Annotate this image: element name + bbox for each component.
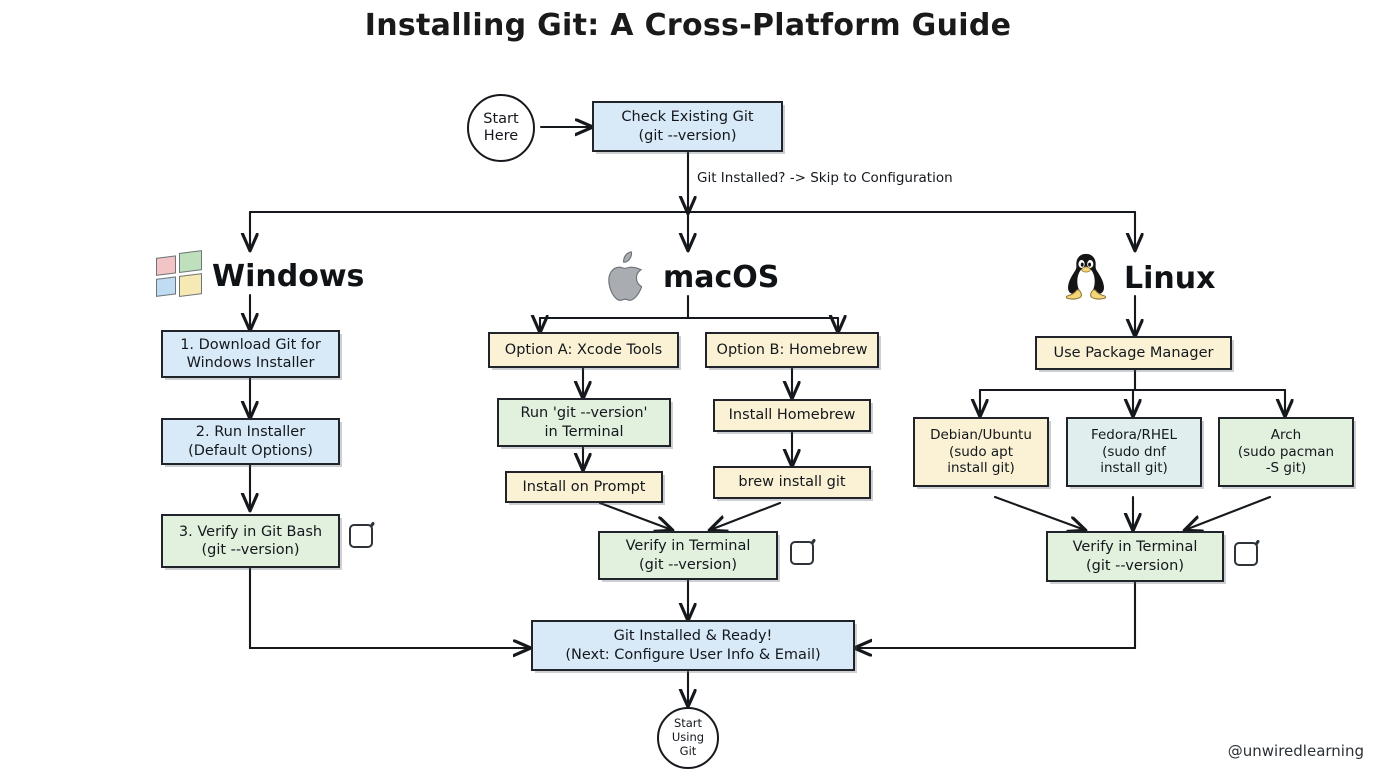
- edge-label-skip-to-configuration: Git Installed? -> Skip to Configuration: [697, 170, 953, 186]
- platform-header-windows: Windows: [156, 255, 364, 297]
- windows-logo-icon: [156, 252, 202, 300]
- node-macos-brew-install-git[interactable]: brew install git: [713, 466, 871, 499]
- node-linux-verify-label: Verify in Terminal (git --version): [1056, 538, 1214, 574]
- node-macos-verify-label: Verify in Terminal (git --version): [608, 537, 768, 573]
- apple-logo-icon: [605, 250, 653, 304]
- platform-header-macos: macOS: [605, 250, 779, 304]
- node-linux-debian-ubuntu[interactable]: Debian/Ubuntu (sudo apt install git): [913, 417, 1049, 487]
- node-macos-verify[interactable]: Verify in Terminal (git --version): [598, 531, 778, 580]
- node-linux-arch-label: Arch (sudo pacman -S git): [1228, 427, 1344, 478]
- node-macos-brew-install-git-label: brew install git: [723, 473, 861, 491]
- watermark: @unwiredlearning: [1228, 742, 1364, 760]
- node-check-existing-git[interactable]: Check Existing Git (git --version): [592, 101, 783, 152]
- node-windows-step-2-label: 2. Run Installer (Default Options): [171, 423, 330, 459]
- end-node-label: Start Using Git: [672, 717, 704, 758]
- node-macos-install-homebrew-label: Install Homebrew: [723, 406, 861, 424]
- node-linux-fedora-rhel-label: Fedora/RHEL (sudo dnf install git): [1076, 427, 1192, 478]
- node-macos-option-a[interactable]: Option A: Xcode Tools: [488, 332, 679, 368]
- end-node[interactable]: Start Using Git: [657, 707, 719, 769]
- diagram-canvas: Installing Git: A Cross-Platform Guide S…: [0, 0, 1376, 768]
- page-title: Installing Git: A Cross-Platform Guide: [0, 8, 1376, 43]
- node-windows-step-1[interactable]: 1. Download Git for Windows Installer: [161, 330, 340, 378]
- tux-penguin-icon: [1058, 250, 1114, 306]
- start-node-label: Start Here: [483, 111, 518, 146]
- node-linux-verify[interactable]: Verify in Terminal (git --version): [1046, 531, 1224, 582]
- node-linux-package-manager[interactable]: Use Package Manager: [1035, 336, 1232, 370]
- node-windows-step-1-label: 1. Download Git for Windows Installer: [171, 336, 330, 372]
- node-macos-install-on-prompt[interactable]: Install on Prompt: [505, 471, 663, 503]
- node-macos-option-b[interactable]: Option B: Homebrew: [705, 332, 879, 368]
- node-check-existing-git-label: Check Existing Git (git --version): [602, 108, 773, 144]
- platform-name-linux: Linux: [1124, 261, 1215, 296]
- node-macos-option-b-label: Option B: Homebrew: [715, 341, 869, 359]
- check-badge-linux: [1232, 539, 1262, 569]
- node-macos-install-homebrew[interactable]: Install Homebrew: [713, 399, 871, 432]
- start-node[interactable]: Start Here: [467, 94, 535, 162]
- node-windows-step-3[interactable]: 3. Verify in Git Bash (git --version): [161, 514, 340, 568]
- node-git-installed-ready-label: Git Installed & Ready! (Next: Configure …: [541, 627, 845, 663]
- platform-header-linux: Linux: [1058, 250, 1215, 306]
- node-macos-install-on-prompt-label: Install on Prompt: [515, 478, 653, 496]
- platform-name-windows: Windows: [212, 259, 364, 294]
- node-macos-run-git-version[interactable]: Run 'git --version' in Terminal: [497, 398, 671, 447]
- node-windows-step-3-label: 3. Verify in Git Bash (git --version): [171, 523, 330, 559]
- check-badge-macos: [788, 538, 818, 568]
- node-linux-debian-ubuntu-label: Debian/Ubuntu (sudo apt install git): [923, 427, 1039, 478]
- node-macos-run-git-version-label: Run 'git --version' in Terminal: [507, 404, 661, 440]
- node-linux-fedora-rhel[interactable]: Fedora/RHEL (sudo dnf install git): [1066, 417, 1202, 487]
- check-badge-windows: [347, 521, 377, 551]
- platform-name-macos: macOS: [663, 260, 779, 295]
- node-windows-step-2[interactable]: 2. Run Installer (Default Options): [161, 418, 340, 465]
- node-linux-arch[interactable]: Arch (sudo pacman -S git): [1218, 417, 1354, 487]
- node-git-installed-ready[interactable]: Git Installed & Ready! (Next: Configure …: [531, 620, 855, 671]
- node-linux-package-manager-label: Use Package Manager: [1045, 344, 1222, 362]
- node-macos-option-a-label: Option A: Xcode Tools: [498, 341, 669, 359]
